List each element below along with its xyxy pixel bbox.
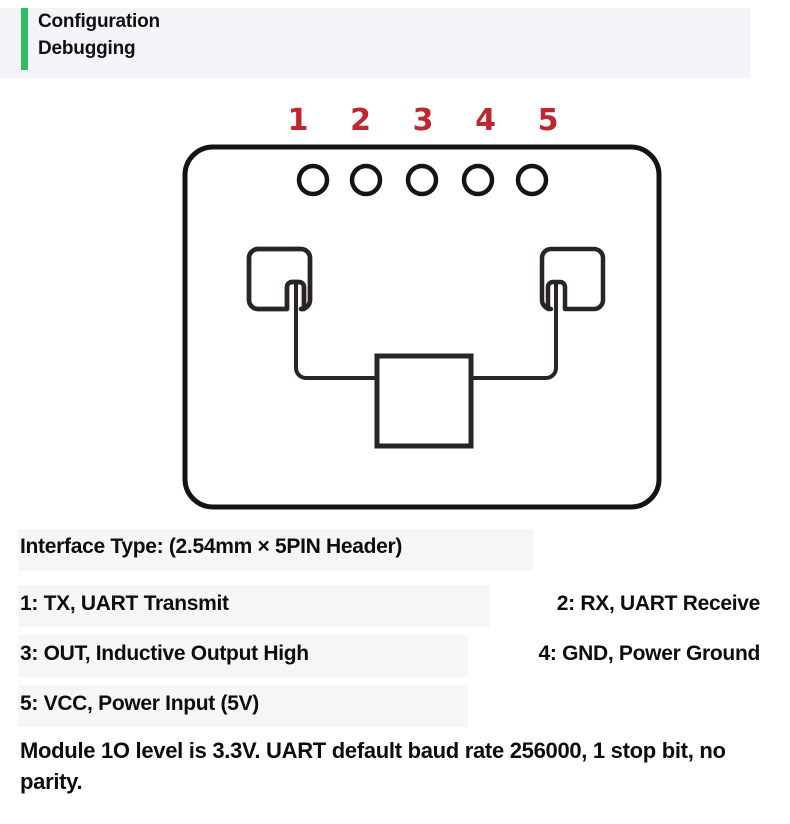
center-chip [377,356,471,446]
pin-hole-3 [408,166,436,194]
pin-number-3: 3 [408,104,438,138]
interface-spec-section: Interface Type: (2.54mm × 5PIN Header) [0,527,790,577]
board-outline [185,147,659,507]
pin-desc-4: 4: GND, Power Ground [538,642,760,666]
pin-hole-1 [299,166,327,194]
page-title: Configuration Debugging [38,8,438,62]
antenna-pad-right [542,249,603,309]
antenna-pad-left [249,249,310,309]
pin-desc-2: 2: RX, UART Receive [557,592,760,616]
pin-number-5: 5 [533,104,563,138]
pin-description-list: 1: TX, UART Transmit 2: RX, UART Receive… [0,585,790,735]
pin-number-4: 4 [471,104,501,138]
pin-row-1: 1: TX, UART Transmit 2: RX, UART Receive [0,585,790,635]
trace-right [470,284,556,378]
interface-type-line: Interface Type: (2.54mm × 5PIN Header) [0,527,790,577]
pin-desc-5: 5: VCC, Power Input (5V) [20,692,259,716]
pin-hole-5 [518,166,546,194]
interface-type-label: Interface Type: (2.54mm × 5PIN Header) [20,535,402,559]
pin-hole-4 [464,166,492,194]
pin-desc-3: 3: OUT, Inductive Output High [20,642,309,666]
pin-row-3: 5: VCC, Power Input (5V) [0,685,790,735]
header-accent-bar [21,8,28,70]
trace-left [296,284,380,378]
pcb-module-diagram [0,0,790,530]
module-note: Module 1O level is 3.3V. UART default ba… [20,735,760,797]
pin-number-row: 1 2 3 4 5 [283,104,563,142]
pin-number-2: 2 [346,104,376,138]
pin-row-2: 3: OUT, Inductive Output High 4: GND, Po… [0,635,790,685]
pin-number-1: 1 [283,104,313,138]
pin-hole-2 [352,166,380,194]
pin-desc-1: 1: TX, UART Transmit [20,592,229,616]
antenna-pad-left-body [249,249,310,309]
